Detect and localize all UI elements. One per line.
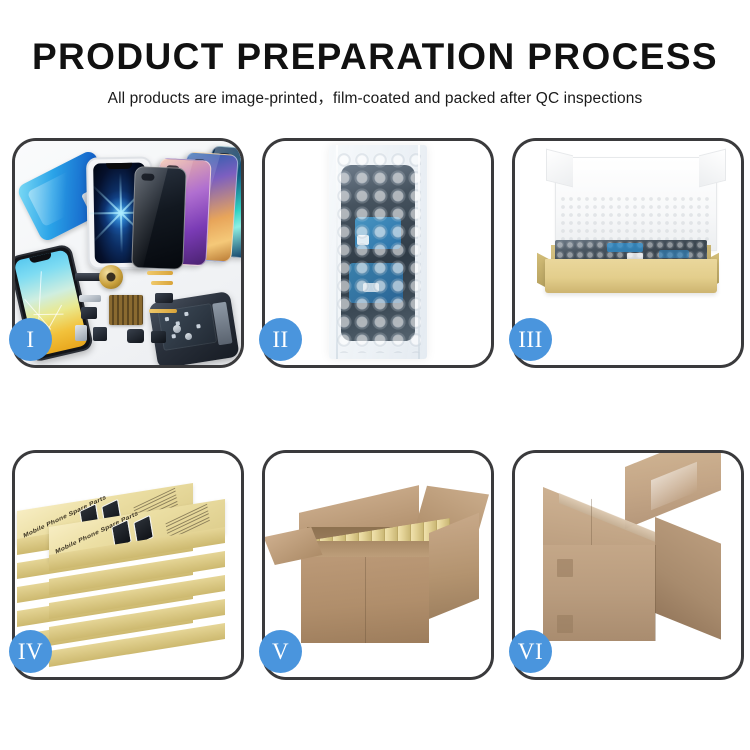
carton-handle-tab [557, 615, 573, 633]
bubble-bag [329, 145, 427, 359]
camera-part [81, 307, 97, 319]
step-panel-6[interactable]: VI [512, 450, 744, 680]
tray-front-wall [545, 259, 717, 293]
ic-grid-part [109, 295, 143, 325]
product-preparation-process-page: PRODUCT PREPARATION PROCESS All products… [0, 0, 750, 750]
sealed-carton [533, 487, 729, 653]
page-subtitle: All products are image-printed，film-coat… [0, 86, 750, 108]
step-panel-5[interactable]: V [262, 450, 494, 680]
step-badge-2: II [259, 318, 302, 361]
step-panel-2[interactable]: II [262, 138, 494, 368]
button-part [93, 327, 107, 341]
taptic-engine-part [99, 265, 123, 289]
carton-vertical-edge [655, 545, 656, 641]
carton-right-face [655, 517, 721, 640]
step-panel-4[interactable]: Mobile Phone Spare Parts [12, 450, 244, 680]
open-carton [277, 483, 485, 657]
step-badge-1: I [9, 318, 52, 361]
spare-parts-cluster [73, 269, 205, 353]
carton-handle-tab [557, 559, 573, 577]
carton-seam [365, 557, 366, 643]
flex-cable-part [151, 281, 173, 285]
flex-cable-part [147, 271, 173, 275]
step-panel-1[interactable]: I [12, 138, 244, 368]
flex-cable-part [149, 309, 177, 313]
carton-side-face [429, 513, 479, 619]
bracket-part [79, 295, 101, 302]
screw-part [75, 325, 87, 341]
phone-dark [131, 166, 187, 270]
step-badge-3: III [509, 318, 552, 361]
camera-module-part [127, 329, 144, 343]
connector-part [155, 293, 173, 303]
step-badge-5: V [259, 630, 302, 673]
box-stack: Mobile Phone Spare Parts [17, 467, 241, 667]
step-panel-3[interactable]: III [512, 138, 744, 368]
screw-part [185, 333, 192, 340]
process-steps-grid: I II [0, 138, 750, 690]
step-badge-6: VI [509, 630, 552, 673]
page-title: PRODUCT PREPARATION PROCESS [0, 38, 750, 75]
speaker-part [151, 331, 166, 343]
screw-part [173, 325, 181, 333]
step-badge-4: IV [9, 630, 52, 673]
bubble-texture-shadow [335, 151, 421, 353]
